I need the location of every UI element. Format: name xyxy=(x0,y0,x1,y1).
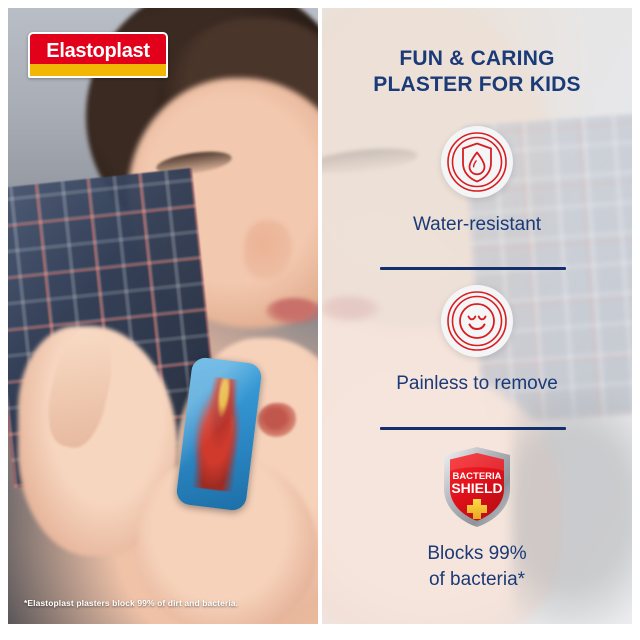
feature-water-resistant: Water-resistant xyxy=(322,126,632,237)
left-product-photo-panel: Elastoplast *Elastoplast plasters block … xyxy=(8,8,318,624)
bacteria-shield-badge-icon: BACTERIA SHIELD xyxy=(441,445,513,529)
feature-label: Water-resistant xyxy=(322,212,632,237)
feature-painless-to-remove: Painless to remove xyxy=(322,285,632,396)
blocks-line-1: Blocks 99% xyxy=(322,541,632,567)
feature-divider-2 xyxy=(380,427,566,430)
feature-divider-1 xyxy=(380,267,566,270)
advertisement-canvas: Elastoplast *Elastoplast plasters block … xyxy=(0,0,640,640)
feature-blocks-bacteria: BACTERIA SHIELD Blocks 99% of bacteria* xyxy=(322,445,632,593)
elastoplast-logo: Elastoplast xyxy=(28,32,168,78)
photo-lips xyxy=(266,298,318,324)
feature-label: Blocks 99% of bacteria* xyxy=(322,541,632,593)
blocks-line-2: of bacteria* xyxy=(322,567,632,593)
badge-line-2: SHIELD xyxy=(451,480,502,496)
feature-label: Painless to remove xyxy=(322,371,632,396)
logo-swoosh-mask xyxy=(28,76,168,78)
benefits-content: FUN & CARING PLASTER FOR KIDS Water-resi… xyxy=(322,8,632,624)
legal-footnote: *Elastoplast plasters block 99% of dirt … xyxy=(24,598,238,608)
headline-line-2: PLASTER FOR KIDS xyxy=(322,72,632,98)
logo-plate: Elastoplast xyxy=(28,32,168,78)
logo-wordmark: Elastoplast xyxy=(30,41,166,61)
headline-line-1: FUN & CARING xyxy=(322,46,632,72)
right-benefits-panel: FUN & CARING PLASTER FOR KIDS Water-resi… xyxy=(322,8,632,624)
page-title: FUN & CARING PLASTER FOR KIDS xyxy=(322,46,632,98)
smiley-face-icon xyxy=(441,285,513,357)
water-drop-shield-icon xyxy=(441,126,513,198)
